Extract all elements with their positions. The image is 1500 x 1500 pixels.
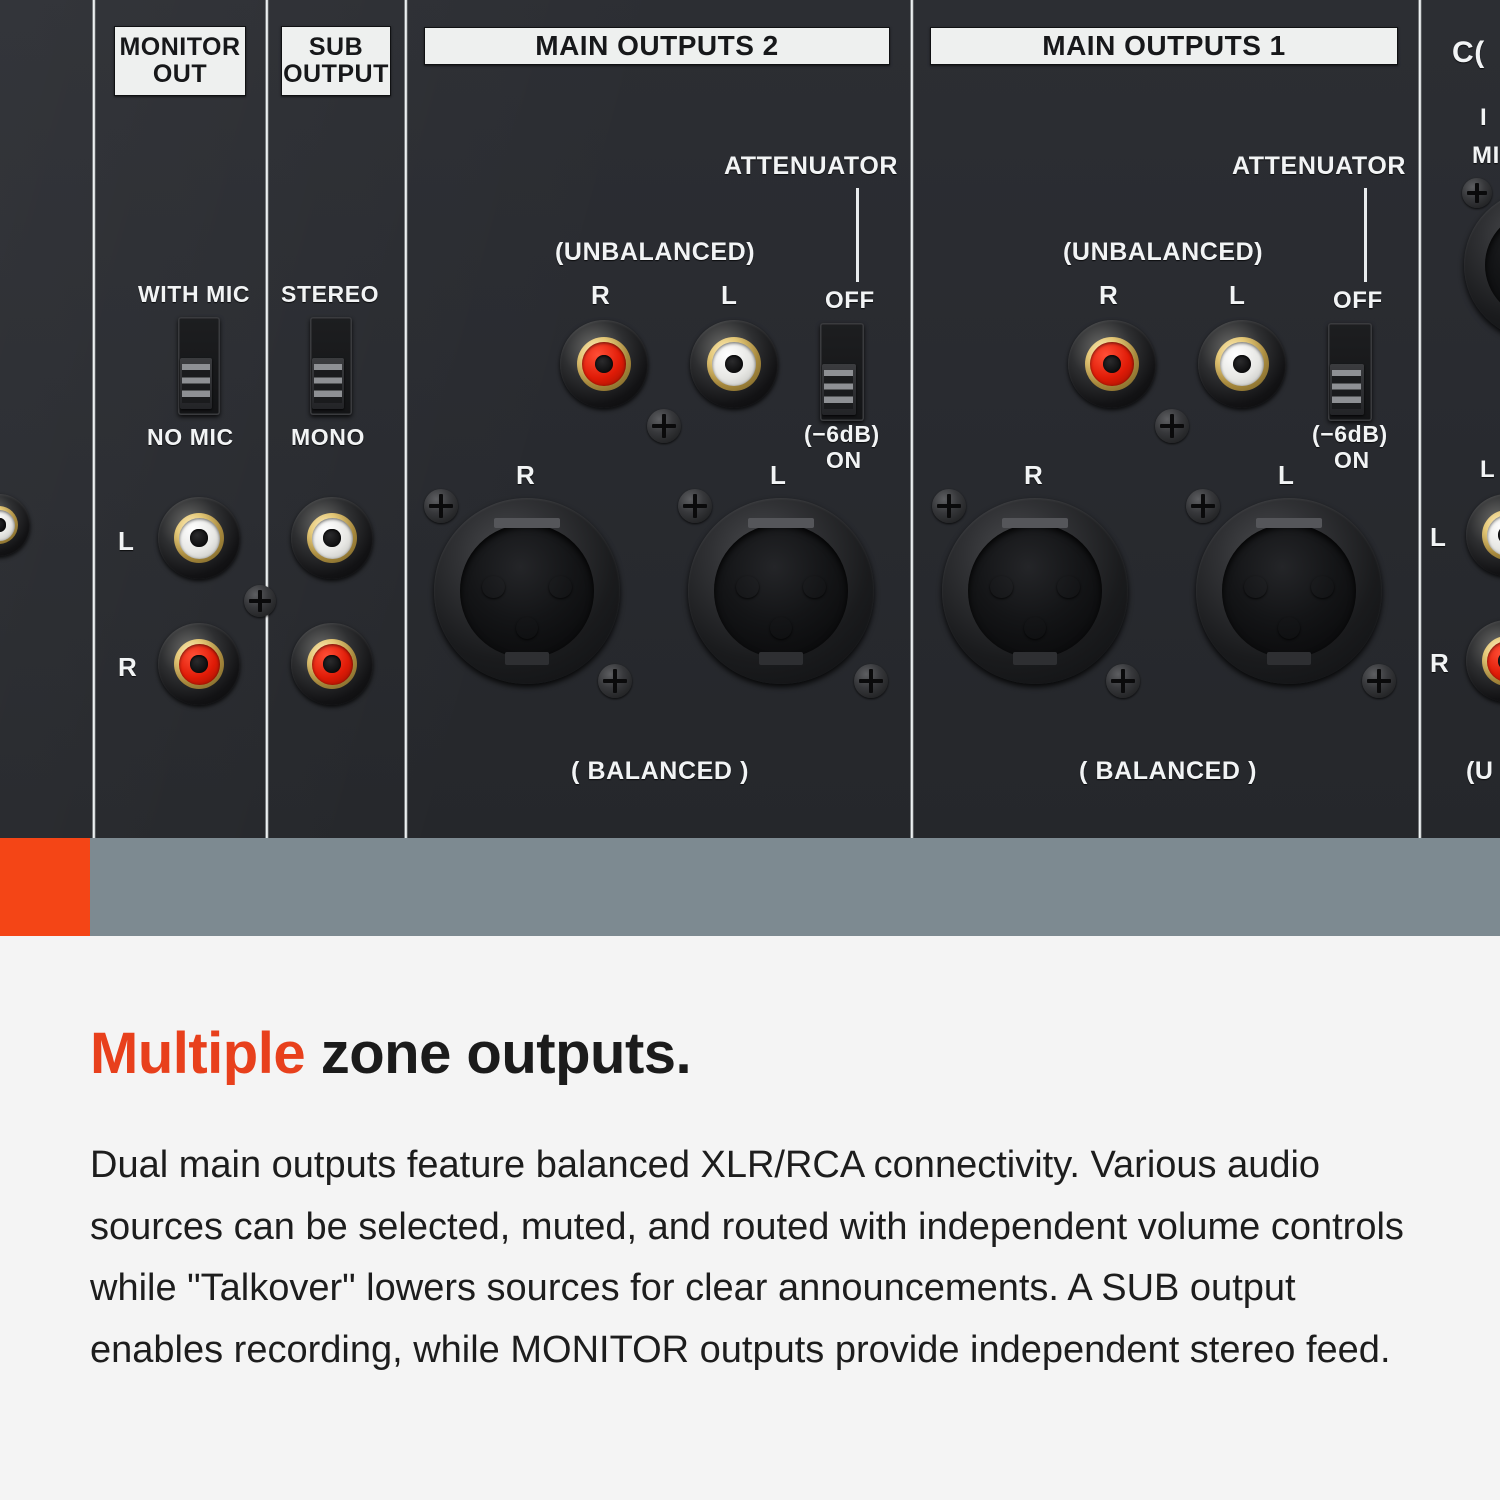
partial-l-label: L: [1430, 522, 1446, 553]
main-2-rca-r-label: R: [591, 280, 610, 311]
body-paragraph: Dual main outputs feature balanced XLR/R…: [90, 1135, 1410, 1381]
accent-bar-gray: [90, 838, 1500, 936]
monitor-mic-switch[interactable]: [178, 317, 220, 415]
monitor-jack-r-label: R: [118, 652, 137, 683]
attenuator-1-on-label-1: (−6dB): [1312, 421, 1388, 448]
content-block: Multiple zone outputs. Dual main outputs…: [0, 936, 1500, 1381]
partial-unbalanced-fragment: (U: [1466, 757, 1494, 786]
main-outputs-2-rca-r[interactable]: [560, 320, 648, 408]
sub-output-banner: SUB OUTPUT: [281, 26, 391, 96]
partial-fragment-line-2: I: [1480, 104, 1487, 132]
panel-screw: [1155, 409, 1189, 443]
attenuator-2-on-label-2: ON: [826, 447, 862, 474]
main-outputs-2-xlr-r[interactable]: [434, 498, 620, 684]
panel-screw: [932, 489, 966, 523]
sub-switch-top-label: STEREO: [281, 281, 379, 308]
banner-line-2: OUT: [119, 61, 240, 88]
attenuator-1-on-label-2: ON: [1334, 447, 1370, 474]
main-2-xlr-l-label: L: [770, 460, 786, 491]
main-1-unbalanced-label: (UNBALANCED): [1063, 238, 1263, 267]
panel-screw: [1462, 178, 1492, 208]
headline-rest: zone outputs.: [305, 1021, 691, 1086]
partial-lr-label: L: [1480, 456, 1495, 484]
monitor-switch-bottom-label: NO MIC: [147, 424, 234, 451]
main-2-xlr-r-label: R: [516, 460, 535, 491]
main-1-rca-l-label: L: [1229, 280, 1245, 311]
section-monitor-out: MONITOR OUT WITH MIC NO MIC L R: [96, 0, 265, 838]
main-outputs-2-banner: MAIN OUTPUTS 2: [424, 27, 890, 65]
main-outputs-1-banner: MAIN OUTPUTS 1: [930, 27, 1398, 65]
attenuator-1-title: ATTENUATOR: [1232, 152, 1406, 181]
accent-bar-orange: [0, 838, 90, 936]
main-outputs-2-xlr-l[interactable]: [688, 498, 874, 684]
sub-stereo-mono-switch[interactable]: [310, 317, 352, 415]
partial-right-xlr[interactable]: [1464, 190, 1500, 340]
panel-screw: [598, 664, 632, 698]
section-partial-right: C( I MI L L R (U: [1422, 0, 1500, 838]
banner-line-1: SUB: [283, 34, 389, 61]
monitor-switch-top-label: WITH MIC: [138, 281, 250, 308]
sub-output-jack-l[interactable]: [291, 497, 373, 579]
attenuator-1-switch[interactable]: [1328, 323, 1372, 421]
main-2-unbalanced-label: (UNBALANCED): [555, 238, 755, 267]
sub-output-jack-r[interactable]: [291, 623, 373, 705]
attenuator-2-title: ATTENUATOR: [724, 152, 898, 181]
headline: Multiple zone outputs.: [90, 1020, 1410, 1087]
main-2-rca-l-label: L: [721, 280, 737, 311]
monitor-jack-l-label: L: [118, 526, 134, 557]
partial-banner-fragment: C(: [1452, 36, 1485, 70]
partial-fragment-line-3: MI: [1472, 142, 1500, 170]
banner-line-2: OUTPUT: [283, 61, 389, 88]
panel-screw: [1106, 664, 1140, 698]
attenuator-2-off-label: OFF: [825, 287, 875, 315]
partial-right-jack-r[interactable]: [1466, 620, 1500, 702]
main-1-xlr-l-label: L: [1278, 460, 1294, 491]
section-main-outputs-1: MAIN OUTPUTS 1 ATTENUATOR OFF (−6dB) ON …: [914, 0, 1418, 838]
monitor-out-jack-l[interactable]: [158, 497, 240, 579]
monitor-out-banner: MONITOR OUT: [114, 26, 246, 96]
main-1-rca-r-label: R: [1099, 280, 1118, 311]
attenuator-2-pointer-line: [856, 188, 859, 282]
panel-screw: [854, 664, 888, 698]
attenuator-2-on-label-1: (−6dB): [804, 421, 880, 448]
attenuator-2-switch[interactable]: [820, 323, 864, 421]
attenuator-1-off-label: OFF: [1333, 287, 1383, 315]
main-outputs-1-xlr-l[interactable]: [1196, 498, 1382, 684]
main-outputs-1-rca-l[interactable]: [1198, 320, 1286, 408]
section-sub-output: SUB OUTPUT STEREO MONO: [269, 0, 404, 838]
banner-line-1: MONITOR: [119, 34, 240, 61]
product-photo: MONITOR OUT WITH MIC NO MIC L R SUB OUTP…: [0, 0, 1500, 838]
main-outputs-1-xlr-r[interactable]: [942, 498, 1128, 684]
main-outputs-1-rca-r[interactable]: [1068, 320, 1156, 408]
attenuator-1-pointer-line: [1364, 188, 1367, 282]
partial-right-jack-l[interactable]: [1466, 494, 1500, 576]
panel-screw: [647, 409, 681, 443]
main-1-balanced-label: ( BALANCED ): [1079, 757, 1257, 786]
partial-r-label: R: [1430, 648, 1449, 679]
monitor-out-jack-r[interactable]: [158, 623, 240, 705]
section-main-outputs-2: MAIN OUTPUTS 2 ATTENUATOR OFF (−6dB) ON …: [408, 0, 910, 838]
sub-switch-bottom-label: MONO: [291, 424, 365, 451]
panel-screw: [424, 489, 458, 523]
main-outputs-2-rca-l[interactable]: [690, 320, 778, 408]
panel-screw: [678, 489, 712, 523]
main-1-xlr-r-label: R: [1024, 460, 1043, 491]
headline-accent: Multiple: [90, 1021, 305, 1086]
panel-screw: [1186, 489, 1220, 523]
accent-bar: [0, 838, 1500, 936]
main-2-balanced-label: ( BALANCED ): [571, 757, 749, 786]
panel-screw: [1362, 664, 1396, 698]
